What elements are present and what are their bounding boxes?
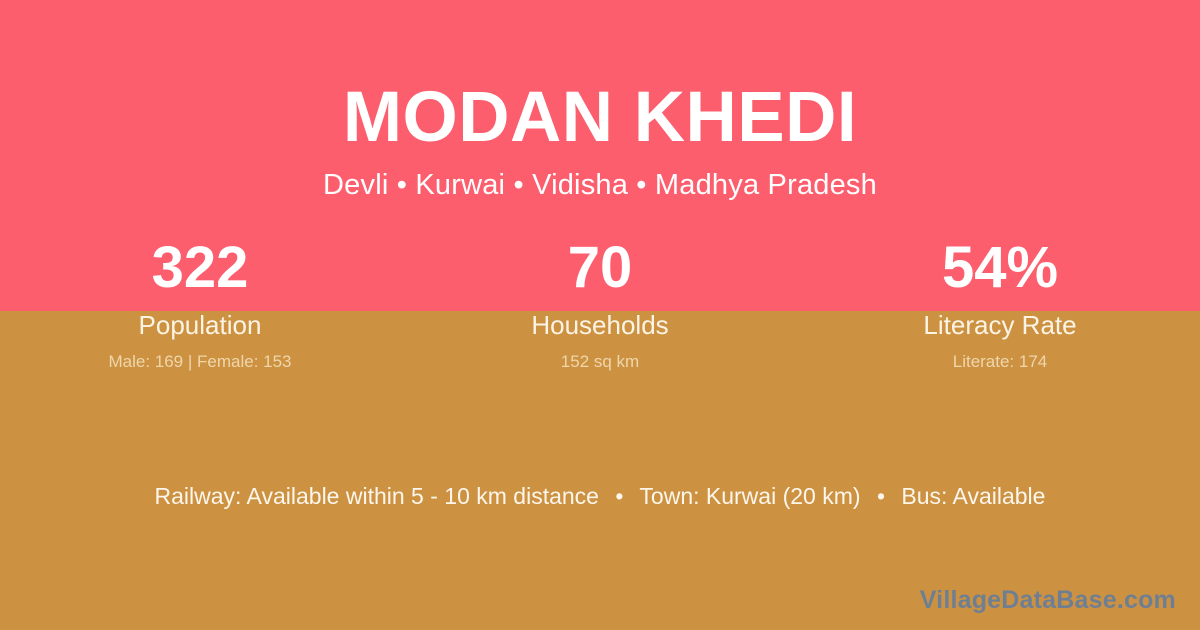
stat-literacy: 54% Literacy Rate Literate: 174: [800, 239, 1200, 370]
stat-households-label: Households: [400, 312, 800, 338]
breadcrumb: Devli • Kurwai • Vidisha • Madhya Prades…: [0, 153, 1200, 200]
stat-population: 322 Population Male: 169 | Female: 153: [0, 239, 400, 370]
title-block: MODAN KHEDI Devli • Kurwai • Vidisha • M…: [0, 0, 1200, 200]
stat-literacy-label: Literacy Rate: [800, 312, 1200, 338]
stat-households-value: 70: [400, 239, 800, 301]
stat-literacy-detail: Literate: 174: [800, 353, 1200, 370]
stat-households: 70 Households 152 sq km: [400, 239, 800, 370]
stat-population-label: Population: [0, 312, 400, 338]
connectivity-railway: Railway: Available within 5 - 10 km dist…: [155, 483, 599, 509]
stat-population-value: 322: [0, 239, 400, 301]
village-info-card: MODAN KHEDI Devli • Kurwai • Vidisha • M…: [0, 0, 1200, 630]
connectivity-row: Railway: Available within 5 - 10 km dist…: [0, 485, 1200, 508]
connectivity-separator-1: •: [605, 485, 633, 508]
page-title: MODAN KHEDI: [0, 0, 1200, 153]
stats-row: 322 Population Male: 169 | Female: 153 7…: [0, 239, 1200, 370]
brand-watermark: VillageDataBase.com: [920, 588, 1176, 613]
stat-literacy-value: 54%: [800, 239, 1200, 301]
stat-households-detail: 152 sq km: [400, 353, 800, 370]
stat-population-detail: Male: 169 | Female: 153: [0, 353, 400, 370]
connectivity-town: Town: Kurwai (20 km): [639, 483, 860, 509]
connectivity-bus: Bus: Available: [901, 483, 1045, 509]
connectivity-separator-2: •: [867, 485, 895, 508]
